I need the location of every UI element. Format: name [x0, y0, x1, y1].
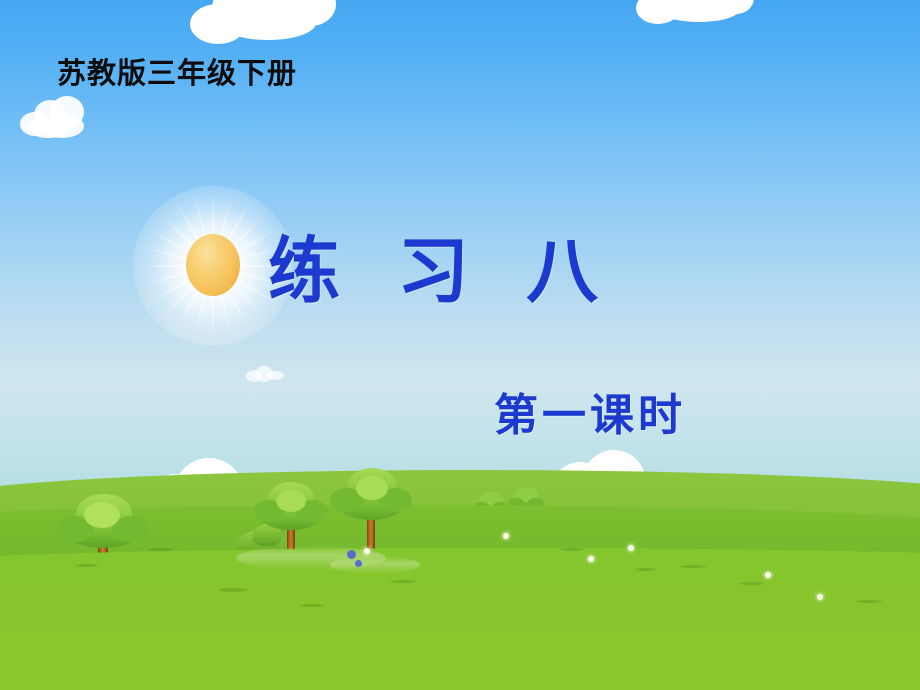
flower-white-6: [817, 594, 823, 600]
grass-tuft-3: [390, 580, 416, 583]
grass-tuft-1: [148, 548, 174, 551]
flower-blue-2: [355, 560, 362, 567]
grass-tuft-8: [636, 568, 656, 571]
grass-patch-right: [330, 556, 420, 574]
grass-tuft-4: [218, 588, 248, 592]
flower-white-1: [364, 548, 370, 554]
flower-white-5: [765, 572, 771, 578]
grass-tuft-5: [560, 548, 584, 551]
grass-tuft-9: [856, 600, 882, 603]
page-title: 练 习 八: [268, 212, 614, 317]
flower-white-4: [588, 556, 594, 562]
sun-disc: [186, 234, 240, 296]
lesson-subtitle: 第一课时: [494, 379, 686, 443]
textbook-edition-label: 苏教版三年级下册: [57, 50, 297, 92]
grass-tuft-6: [680, 565, 706, 568]
grass-tuft-2: [76, 564, 98, 567]
slide-canvas: 苏教版三年级下册 练 习 八 第一课时: [0, 0, 920, 690]
flower-blue-1: [347, 550, 356, 559]
grass-tuft-7: [740, 582, 764, 585]
flower-white-3: [628, 545, 634, 551]
flower-white-2: [503, 533, 509, 539]
hill-flat-base: [0, 630, 920, 690]
grass-tuft-10: [300, 604, 324, 607]
